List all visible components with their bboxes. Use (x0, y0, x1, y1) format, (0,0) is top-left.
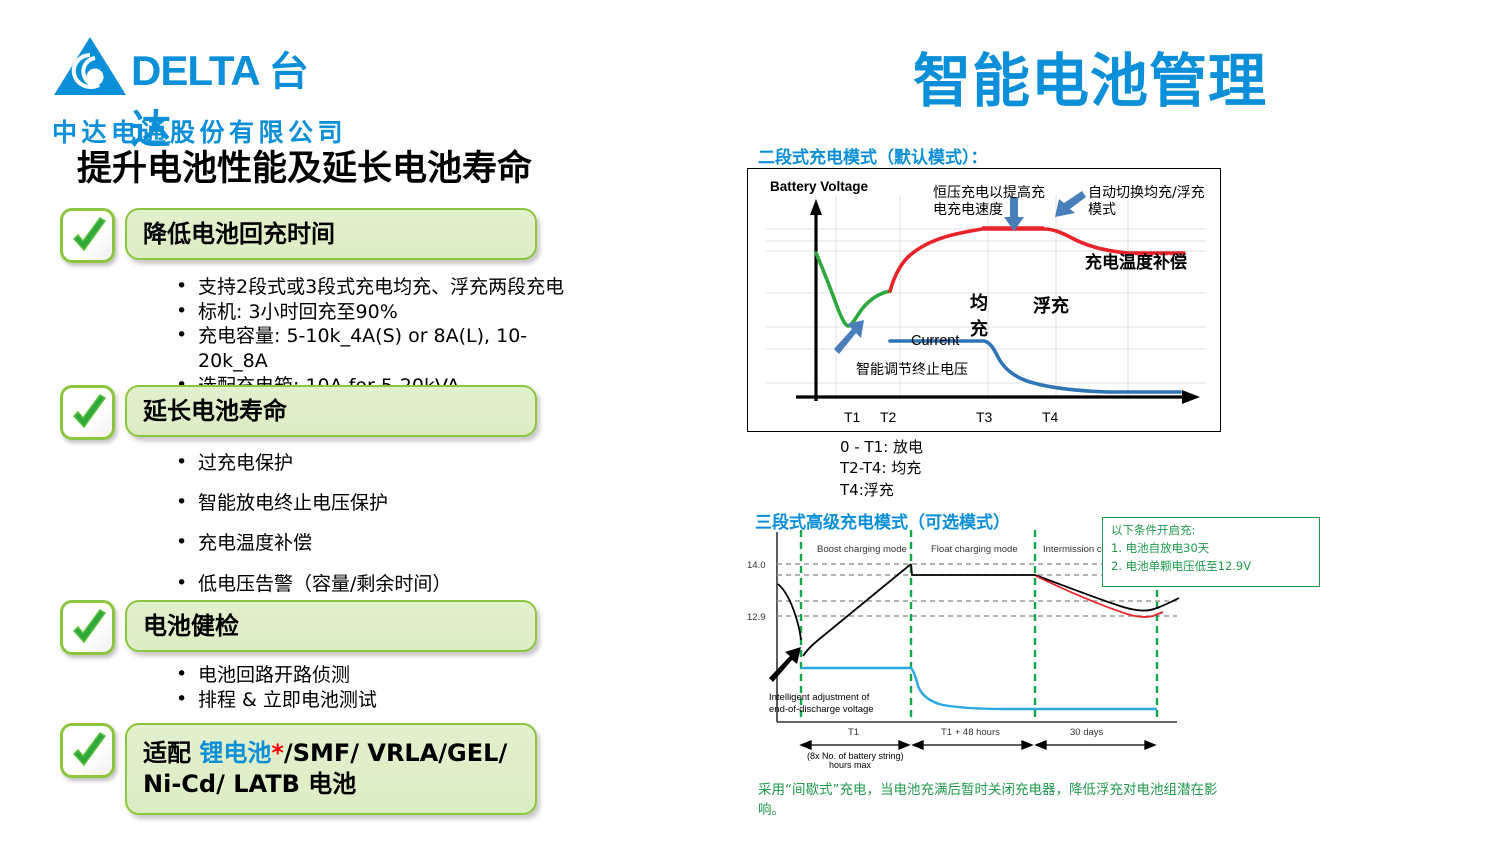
check-icon-1 (60, 208, 115, 263)
feature-row-1: 降低电池回充时间 (60, 208, 550, 263)
callout-item: 2. 电池单颗电压低至12.9V (1111, 558, 1311, 576)
callout-item: 1. 电池自放电30天 (1111, 540, 1311, 558)
feature-pill-3: 电池健检 (125, 600, 537, 652)
feature-title-4: 适配 锂电池*/SMF/ VRLA/GEL/ Ni-Cd/ LATB 电池 (143, 738, 519, 799)
callout-heading: 以下条件开启充: (1111, 522, 1311, 540)
chart1-annot-cv-line2: 电充电速度 (933, 202, 1003, 218)
chart1-label-boost-2: 充 (970, 318, 988, 340)
chart2-ytick-14: 14.0 (747, 560, 766, 571)
section-heading: 提升电池性能及延长电池寿命 (77, 140, 620, 191)
list-item: 充电容量: 5-10k_4A(S) or 8A(L), 10-20k_8A (170, 324, 548, 373)
feature-row-3: 电池健检 (60, 600, 550, 655)
chart2-phase-boost: Boost charging mode (817, 544, 907, 555)
chart1-current-label: Current (911, 333, 959, 349)
chart1-x-tick-labels: T1 T2 T3 T4 (844, 409, 1059, 425)
check-icon-2 (60, 385, 115, 440)
chart1-subtitle: 二段式充电模式（默认模式）： (758, 143, 988, 168)
check-icon-3 (60, 600, 115, 655)
chart1-note-line: 0 - T1: 放电 (840, 437, 923, 458)
chart2-annot-line2: end-of-discharge voltage (769, 704, 874, 715)
list-item: 智能放电终止电压保护 (170, 490, 620, 516)
chart2-span-arrows (801, 741, 1155, 749)
chart2-boost-ramp (803, 564, 911, 656)
chart-two-stage-charging: Battery Voltage Current 智能调节终止电压 恒压充电以提高… (747, 168, 1221, 432)
chart2-note-hours-2: hours max (829, 760, 872, 768)
chart2-dur-t1: T1 (848, 727, 859, 738)
chart1-label-boost-1: 均 (970, 292, 988, 314)
svg-text:T2: T2 (880, 409, 897, 425)
list-item: 低电压告警（容量/剩余时间） (170, 571, 620, 597)
feature-row-2: 延长电池寿命 (60, 385, 550, 440)
chart2-annot-line1: Intelligent adjustment of (769, 692, 870, 703)
list-item: 排程 & 立即电池测试 (170, 688, 620, 713)
chart2-caption: 采用“间歇式”充电，当电池充满后暂时关闭充电器，降低浮充对电池组潜在影响。 (758, 780, 1238, 821)
chart1-y-axis-label: Battery Voltage (770, 179, 869, 194)
callout-box: 以下条件开启充: 1. 电池自放电30天 2. 电池单颗电压低至12.9V (1102, 517, 1320, 587)
brand-name-en: DELTA (131, 47, 260, 94)
chart1-note-line: T4:浮充 (840, 480, 923, 501)
chart1-annot-auto-line2: 模式 (1088, 202, 1116, 218)
check-icon-4 (60, 723, 115, 778)
delta-triangle-logo-icon (52, 35, 128, 97)
compat-asterisk: * (271, 739, 284, 767)
feature-row-4: 适配 锂电池*/SMF/ VRLA/GEL/ Ni-Cd/ LATB 电池 (60, 723, 550, 815)
chart2-dur-30days: 30 days (1070, 727, 1104, 738)
chart1-label-float: 浮充 (1033, 295, 1069, 317)
chart1-annot-end-voltage: 智能调节终止电压 (856, 362, 968, 378)
chart1-canvas: Battery Voltage Current 智能调节终止电压 恒压充电以提高… (748, 169, 1220, 431)
chart1-note-line: T2-T4: 均充 (840, 458, 923, 479)
svg-text:T4: T4 (1042, 409, 1059, 425)
compat-lithium: 锂电池 (199, 739, 271, 767)
list-item: 支持2段式或3段式充电均充、浮充两段充电 (170, 275, 620, 300)
chart2-initial-discharge (778, 584, 801, 640)
feature-title-3: 电池健检 (143, 611, 239, 642)
chart2-annotation-arrow (769, 647, 801, 682)
chart2-ytick-129: 12.9 (747, 612, 766, 623)
list-item: 充电温度补偿 (170, 530, 620, 556)
feature-pill-2: 延长电池寿命 (125, 385, 537, 437)
list-item: 过充电保护 (170, 450, 620, 476)
compat-prefix: 适配 (143, 739, 199, 767)
svg-text:T1: T1 (844, 409, 861, 425)
chart1-annot-temp-comp: 充电温度补偿 (1085, 252, 1187, 273)
page-title: 智能电池管理 (880, 34, 1300, 118)
chart1-annot-auto-line1: 自动切换均充/浮充 (1088, 184, 1205, 201)
feature-pill-1: 降低电池回充时间 (125, 208, 537, 260)
list-item: 电池回路开路侦测 (170, 663, 620, 688)
bullet-list-1: 支持2段式或3段式充电均充、浮充两段充电 标机: 3小时回充至90% 充电容量:… (170, 275, 620, 398)
feature-title-1: 降低电池回充时间 (143, 219, 335, 250)
svg-text:T3: T3 (976, 409, 993, 425)
list-item: 标机: 3小时回充至90% (170, 300, 620, 325)
bullet-list-3: 电池回路开路侦测 排程 & 立即电池测试 (170, 663, 620, 712)
chart2-phase-float: Float charging mode (931, 544, 1018, 555)
feature-title-2: 延长电池寿命 (143, 396, 287, 427)
chart1-annot-cv-line1: 恒压充电以提高充 (933, 184, 1045, 201)
chart2-float-plateau (911, 564, 1035, 575)
brand-logo: DELTA台达 中达电通股份有限公司 (47, 33, 347, 133)
chart1-notes: 0 - T1: 放电 T2-T4: 均充 T4:浮充 (840, 437, 923, 501)
chart1-discharge-curve (816, 253, 890, 326)
chart2-dur-t1-48: T1 + 48 hours (941, 727, 1000, 738)
feature-pill-4: 适配 锂电池*/SMF/ VRLA/GEL/ Ni-Cd/ LATB 电池 (125, 723, 537, 815)
left-content-column: 提升电池性能及延长电池寿命 降低电池回充时间 支持2段式或3段式充电均充、浮充两… (60, 140, 620, 840)
